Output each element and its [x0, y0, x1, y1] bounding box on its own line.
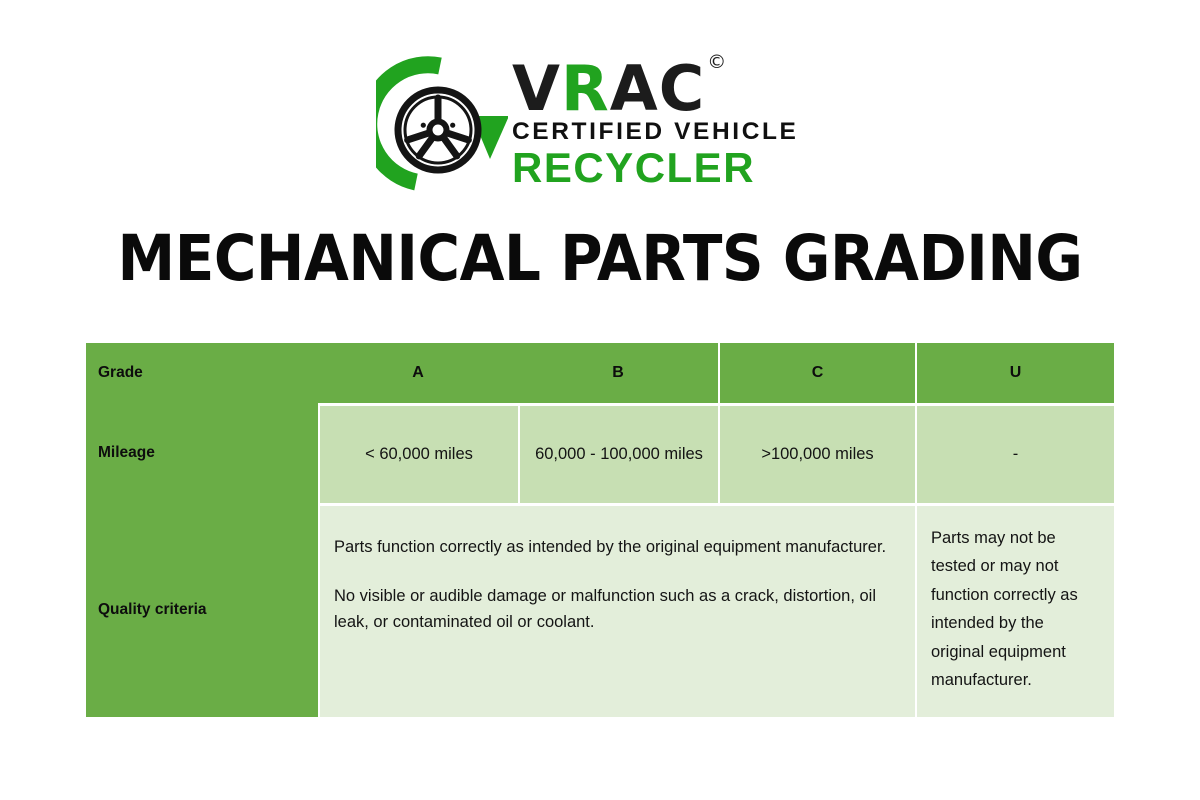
logo-brand-recycler: RECYCLER	[512, 147, 846, 190]
recycling-wheel-logo-icon	[376, 56, 508, 198]
quality-cell-abc: Parts function correctly as intended by …	[318, 503, 915, 717]
header-cell-grade-a: A	[318, 343, 518, 403]
table-row-quality-criteria: Quality criteria Parts function correctl…	[86, 503, 1114, 717]
table-row-mileage: Mileage < 60,000 miles 60,000 - 100,000 …	[86, 403, 1114, 503]
vrac-logo: VRAC© CERTIFIED VEHICLE RECYCLER	[376, 52, 846, 202]
quality-cell-u: Parts may not be tested or may not funct…	[915, 503, 1114, 717]
logo-letter-c: C	[659, 52, 706, 125]
mileage-cell-u: -	[915, 403, 1114, 503]
mileage-cell-c: >100,000 miles	[718, 403, 915, 503]
logo-brand-vrac: VRAC©	[512, 60, 846, 117]
header-cell-grade-c: C	[718, 343, 915, 403]
logo-tagline: CERTIFIED VEHICLE	[512, 118, 846, 146]
row-label-quality-criteria: Quality criteria	[86, 503, 318, 717]
page-title: MECHANICAL PARTS GRADING	[48, 222, 1152, 295]
table-header-row: Grade A B C U	[86, 343, 1114, 403]
logo-letter-v: V	[512, 52, 561, 125]
copyright-icon: ©	[707, 51, 726, 73]
mileage-cell-b: 60,000 - 100,000 miles	[518, 403, 718, 503]
header-cell-grade-u: U	[915, 343, 1114, 403]
logo-wordmark: VRAC© CERTIFIED VEHICLE RECYCLER	[512, 52, 846, 190]
quality-paragraph-1: Parts function correctly as intended by …	[334, 534, 901, 561]
header-cell-grade: Grade	[86, 343, 318, 403]
logo-letter-a: A	[610, 52, 659, 125]
mileage-cell-a: < 60,000 miles	[318, 403, 518, 503]
row-label-mileage: Mileage	[86, 403, 318, 503]
quality-paragraph-2: No visible or audible damage or malfunct…	[334, 583, 901, 636]
header-cell-grade-b: B	[518, 343, 718, 403]
logo-letter-r: R	[561, 52, 610, 125]
mechanical-parts-grading-table: Grade A B C U Mileage < 60,000 miles 60,…	[86, 343, 1114, 717]
